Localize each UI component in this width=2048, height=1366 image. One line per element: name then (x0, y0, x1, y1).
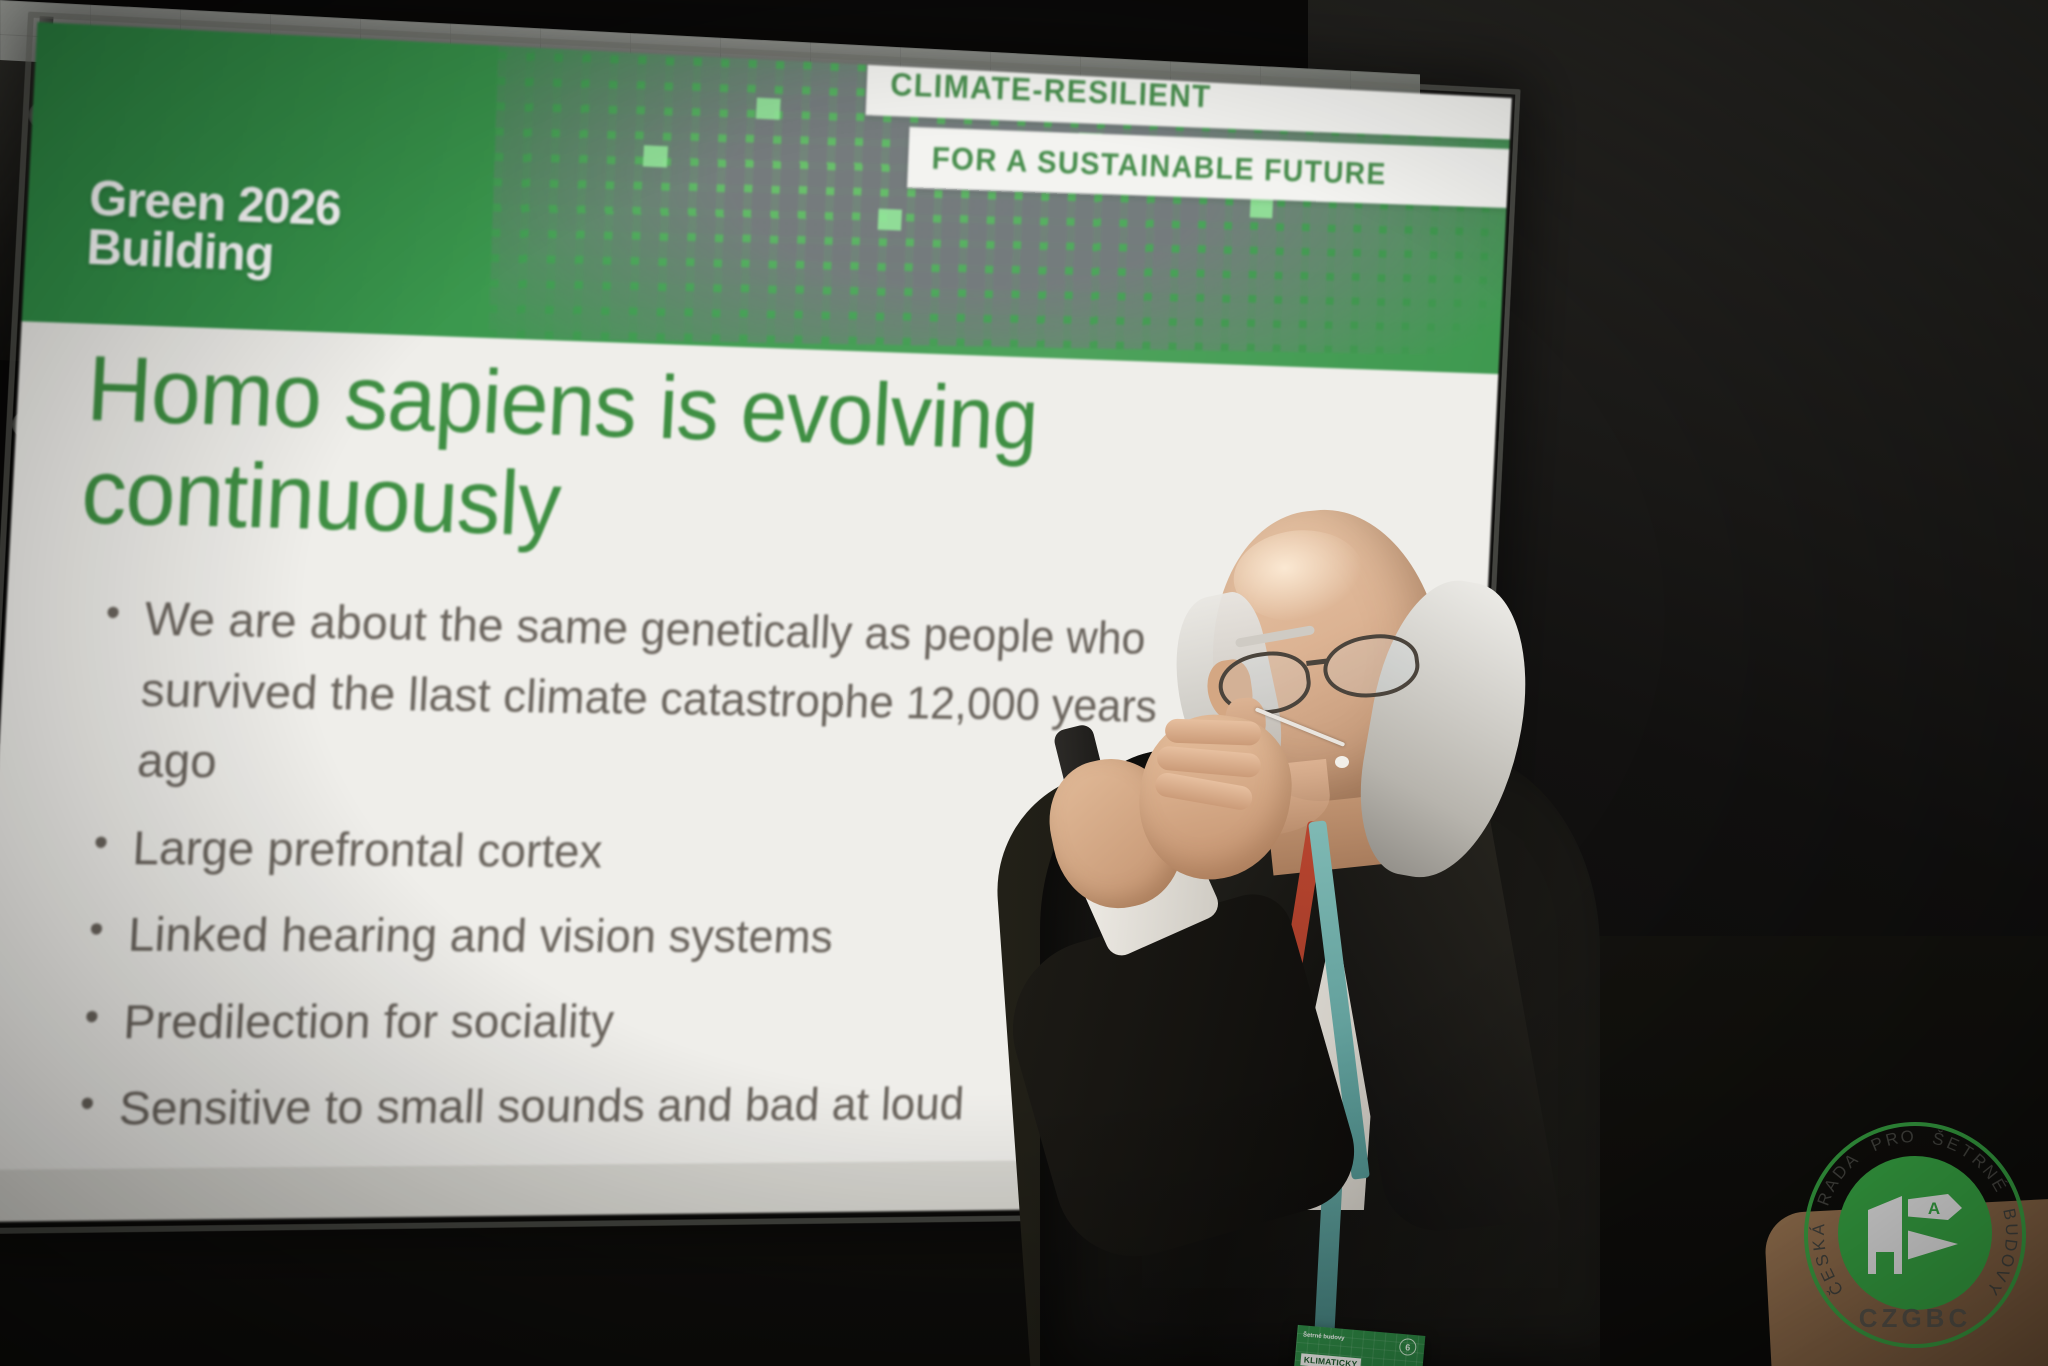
logo-arc-char: R (1884, 1129, 1901, 1151)
logo-arc-char: P (1868, 1133, 1886, 1156)
logo-arc-char: B (1998, 1207, 2020, 1222)
microphone-capsule (1335, 756, 1349, 768)
logo-arc-char: U (2001, 1223, 2021, 1236)
logo-arc-char: Á (1809, 1224, 1829, 1236)
logo-arc-char: O (1900, 1127, 1915, 1148)
lens-right (1320, 630, 1423, 703)
logo-arc-char: K (1809, 1238, 1830, 1252)
logo-arc-char: Š (1930, 1129, 1946, 1151)
speaker-figure: 6 Šetrné budovy KLIMATICKY ODOLNÉ STAVBY… (1030, 520, 1670, 1366)
czgbc-watermark-logo: A ČESKÁ RADA PRO ŠETRNÉ BUDOVY CZGBC (1804, 1122, 2026, 1348)
finger (1153, 771, 1254, 812)
finger (1165, 718, 1262, 745)
badge-title-line: KLIMATICKY (1300, 1353, 1361, 1366)
scene-stage: Green 2026 Building CLIMATE-RESILIENT FO… (0, 0, 2048, 1366)
logo-acronym: CZGBC (1804, 1303, 2026, 1334)
logo-arc-char: D (2000, 1238, 2021, 1253)
